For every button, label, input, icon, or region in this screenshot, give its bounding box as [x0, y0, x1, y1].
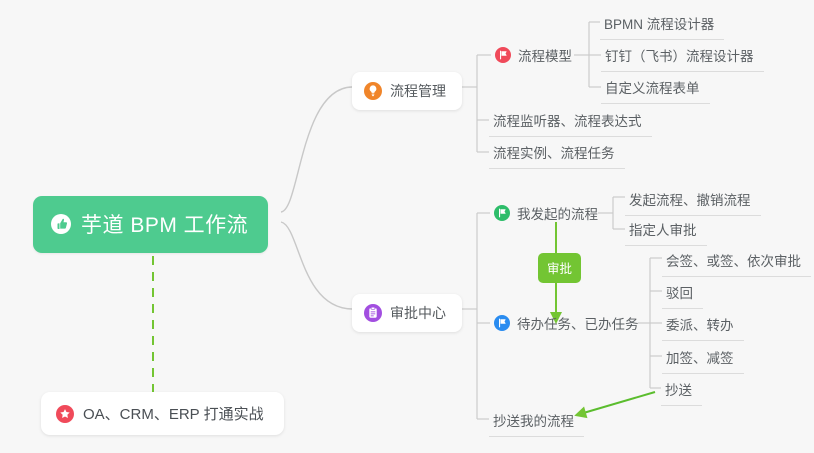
leaf-bpmn-designer[interactable]: BPMN 流程设计器: [600, 9, 724, 40]
leaf-label: 发起流程、撤销流程: [629, 189, 751, 209]
leaf-add-remove-sign[interactable]: 加签、减签: [662, 343, 744, 374]
leaf-label: 钉钉（飞书）流程设计器: [605, 45, 754, 65]
thumbs-up-icon: [50, 213, 72, 235]
badge-label: 审批: [547, 262, 572, 276]
clipboard-icon: [364, 304, 382, 322]
branch-label: 审批中心: [390, 303, 446, 323]
star-icon: [56, 405, 74, 423]
leaf-custom-form[interactable]: 自定义流程表单: [601, 73, 710, 104]
leaf-dingtalk-designer[interactable]: 钉钉（飞书）流程设计器: [601, 41, 764, 72]
leaf-label: 流程实例、流程任务: [493, 142, 615, 162]
leaf-label: 流程监听器、流程表达式: [493, 110, 642, 130]
mindmap-canvas: 芋道 BPM 工作流 流程管理 流程模型 BPMN 流程设计器 钉钉（飞书: [0, 0, 814, 453]
leaf-label: 抄送: [665, 379, 692, 399]
leaf-carbon-copy[interactable]: 抄送: [661, 375, 702, 406]
branch-label: 流程管理: [390, 81, 446, 101]
leaf-process-instance[interactable]: 流程实例、流程任务: [489, 138, 625, 169]
leaf-label: 委派、转办: [666, 314, 734, 334]
leaf-countersign[interactable]: 会签、或签、依次审批: [662, 246, 811, 277]
node-label: 待办任务、已办任务: [517, 313, 639, 333]
node-process-model[interactable]: 流程模型: [491, 41, 582, 71]
leaf-reject[interactable]: 驳回: [662, 278, 703, 309]
bottom-node-label: OA、CRM、ERP 打通实战: [83, 403, 264, 424]
leaf-delegate-transfer[interactable]: 委派、转办: [662, 310, 744, 341]
leaf-start-cancel-process[interactable]: 发起流程、撤销流程: [625, 185, 761, 216]
leaf-label: 会签、或签、依次审批: [666, 250, 801, 270]
leaf-designated-approver[interactable]: 指定人审批: [625, 215, 707, 246]
leaf-label: 自定义流程表单: [605, 77, 700, 97]
flag-icon: [495, 47, 511, 63]
lightbulb-icon: [364, 82, 382, 100]
leaf-cc-to-me-processes[interactable]: 抄送我的流程: [489, 406, 584, 437]
leaf-label: 指定人审批: [629, 219, 697, 239]
approval-annotation-badge: 审批: [538, 253, 581, 283]
node-todo-done-tasks[interactable]: 待办任务、已办任务: [490, 309, 649, 339]
flag-icon: [494, 205, 510, 221]
leaf-label: 抄送我的流程: [493, 410, 574, 430]
leaf-label: 加签、减签: [666, 347, 734, 367]
node-label: 流程模型: [518, 45, 572, 65]
flag-icon: [494, 315, 510, 331]
root-label: 芋道 BPM 工作流: [81, 209, 248, 239]
node-label: 我发起的流程: [517, 203, 598, 223]
branch-node-process-management[interactable]: 流程管理: [352, 72, 462, 110]
root-node[interactable]: 芋道 BPM 工作流: [33, 196, 268, 253]
bottom-node-integration[interactable]: OA、CRM、ERP 打通实战: [41, 392, 284, 435]
leaf-process-listener[interactable]: 流程监听器、流程表达式: [489, 106, 652, 137]
leaf-label: BPMN 流程设计器: [604, 13, 714, 33]
leaf-label: 驳回: [666, 282, 693, 302]
branch-node-approval-center[interactable]: 审批中心: [352, 294, 462, 332]
node-my-initiated-processes[interactable]: 我发起的流程: [490, 199, 608, 229]
